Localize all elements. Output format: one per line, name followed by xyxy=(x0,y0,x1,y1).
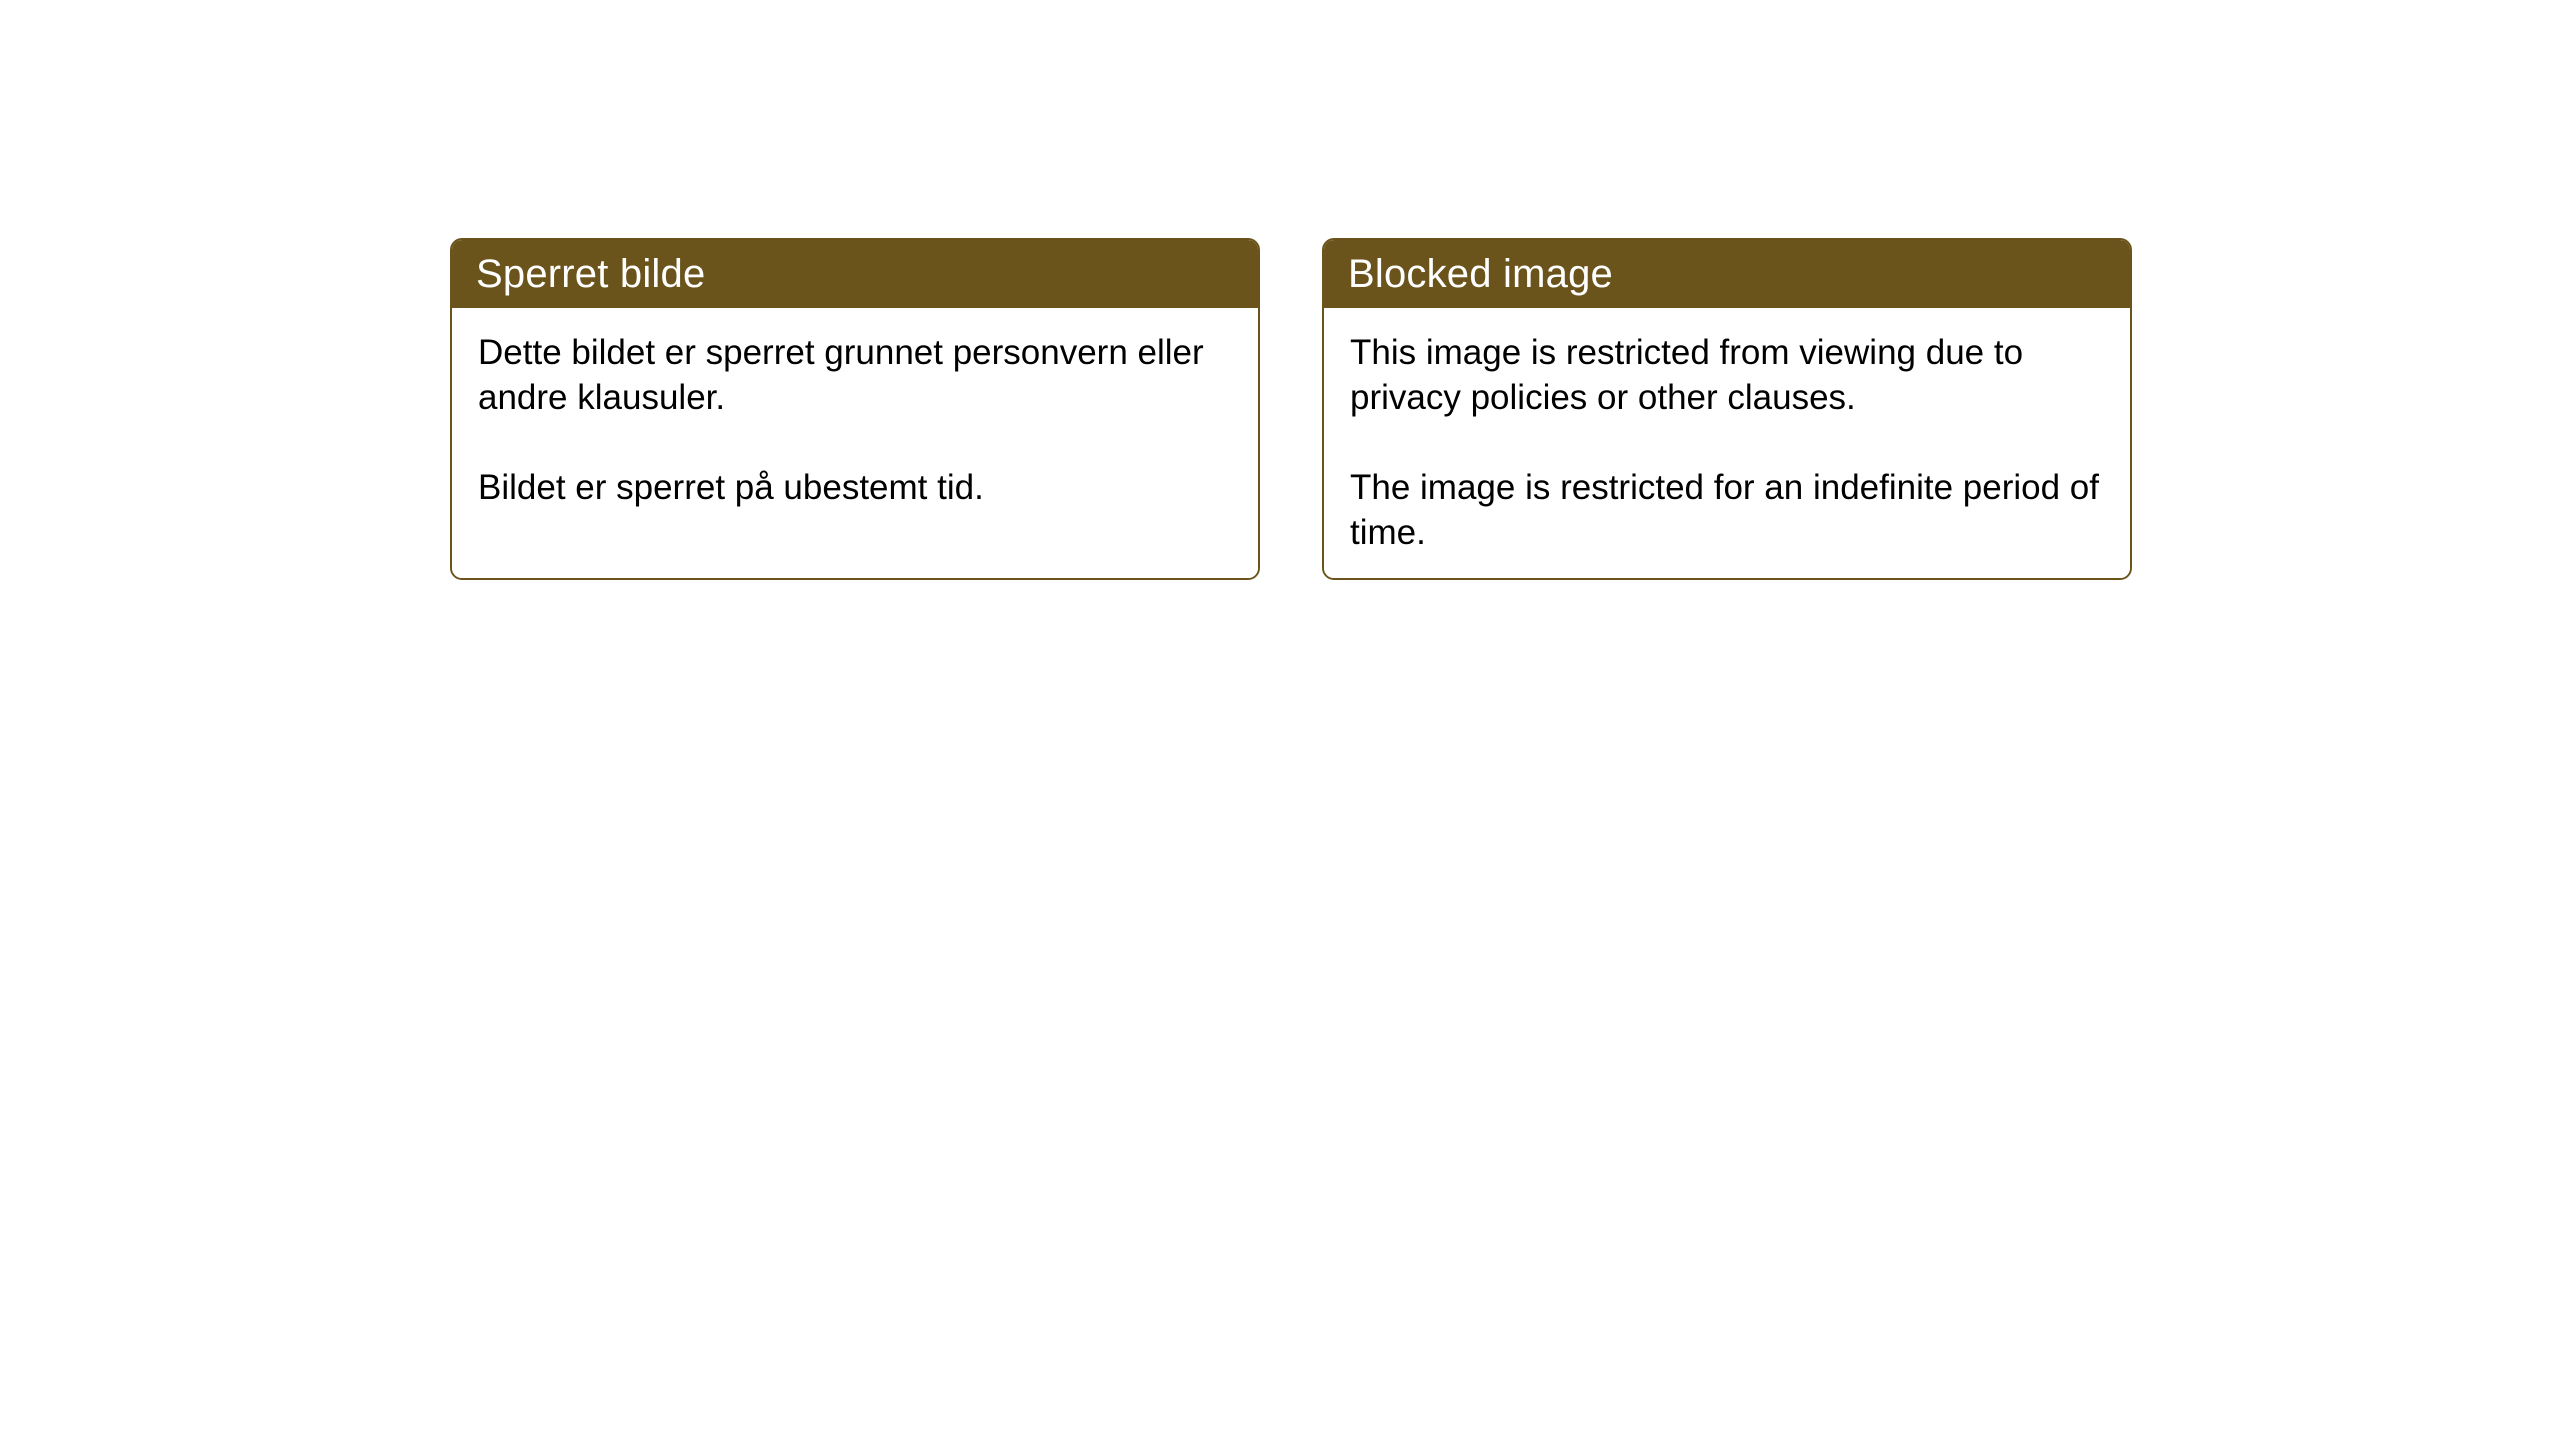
blocked-image-card-english: Blocked image This image is restricted f… xyxy=(1322,238,2132,580)
blocked-image-card-norwegian: Sperret bilde Dette bildet er sperret gr… xyxy=(450,238,1260,580)
card-paragraph-norwegian-2: Bildet er sperret på ubestemt tid. xyxy=(478,465,1232,510)
card-body-norwegian: Dette bildet er sperret grunnet personve… xyxy=(452,308,1258,578)
card-header-english: Blocked image xyxy=(1324,240,2130,308)
card-paragraph-english-2: The image is restricted for an indefinit… xyxy=(1350,465,2104,555)
card-header-norwegian: Sperret bilde xyxy=(452,240,1258,308)
card-title-english: Blocked image xyxy=(1348,254,1613,294)
card-body-english: This image is restricted from viewing du… xyxy=(1324,308,2130,578)
blocked-image-notice-stage: Sperret bilde Dette bildet er sperret gr… xyxy=(450,238,2132,580)
card-paragraph-english-1: This image is restricted from viewing du… xyxy=(1350,330,2090,420)
card-title-norwegian: Sperret bilde xyxy=(476,254,705,294)
card-paragraph-norwegian-1: Dette bildet er sperret grunnet personve… xyxy=(478,330,1218,420)
